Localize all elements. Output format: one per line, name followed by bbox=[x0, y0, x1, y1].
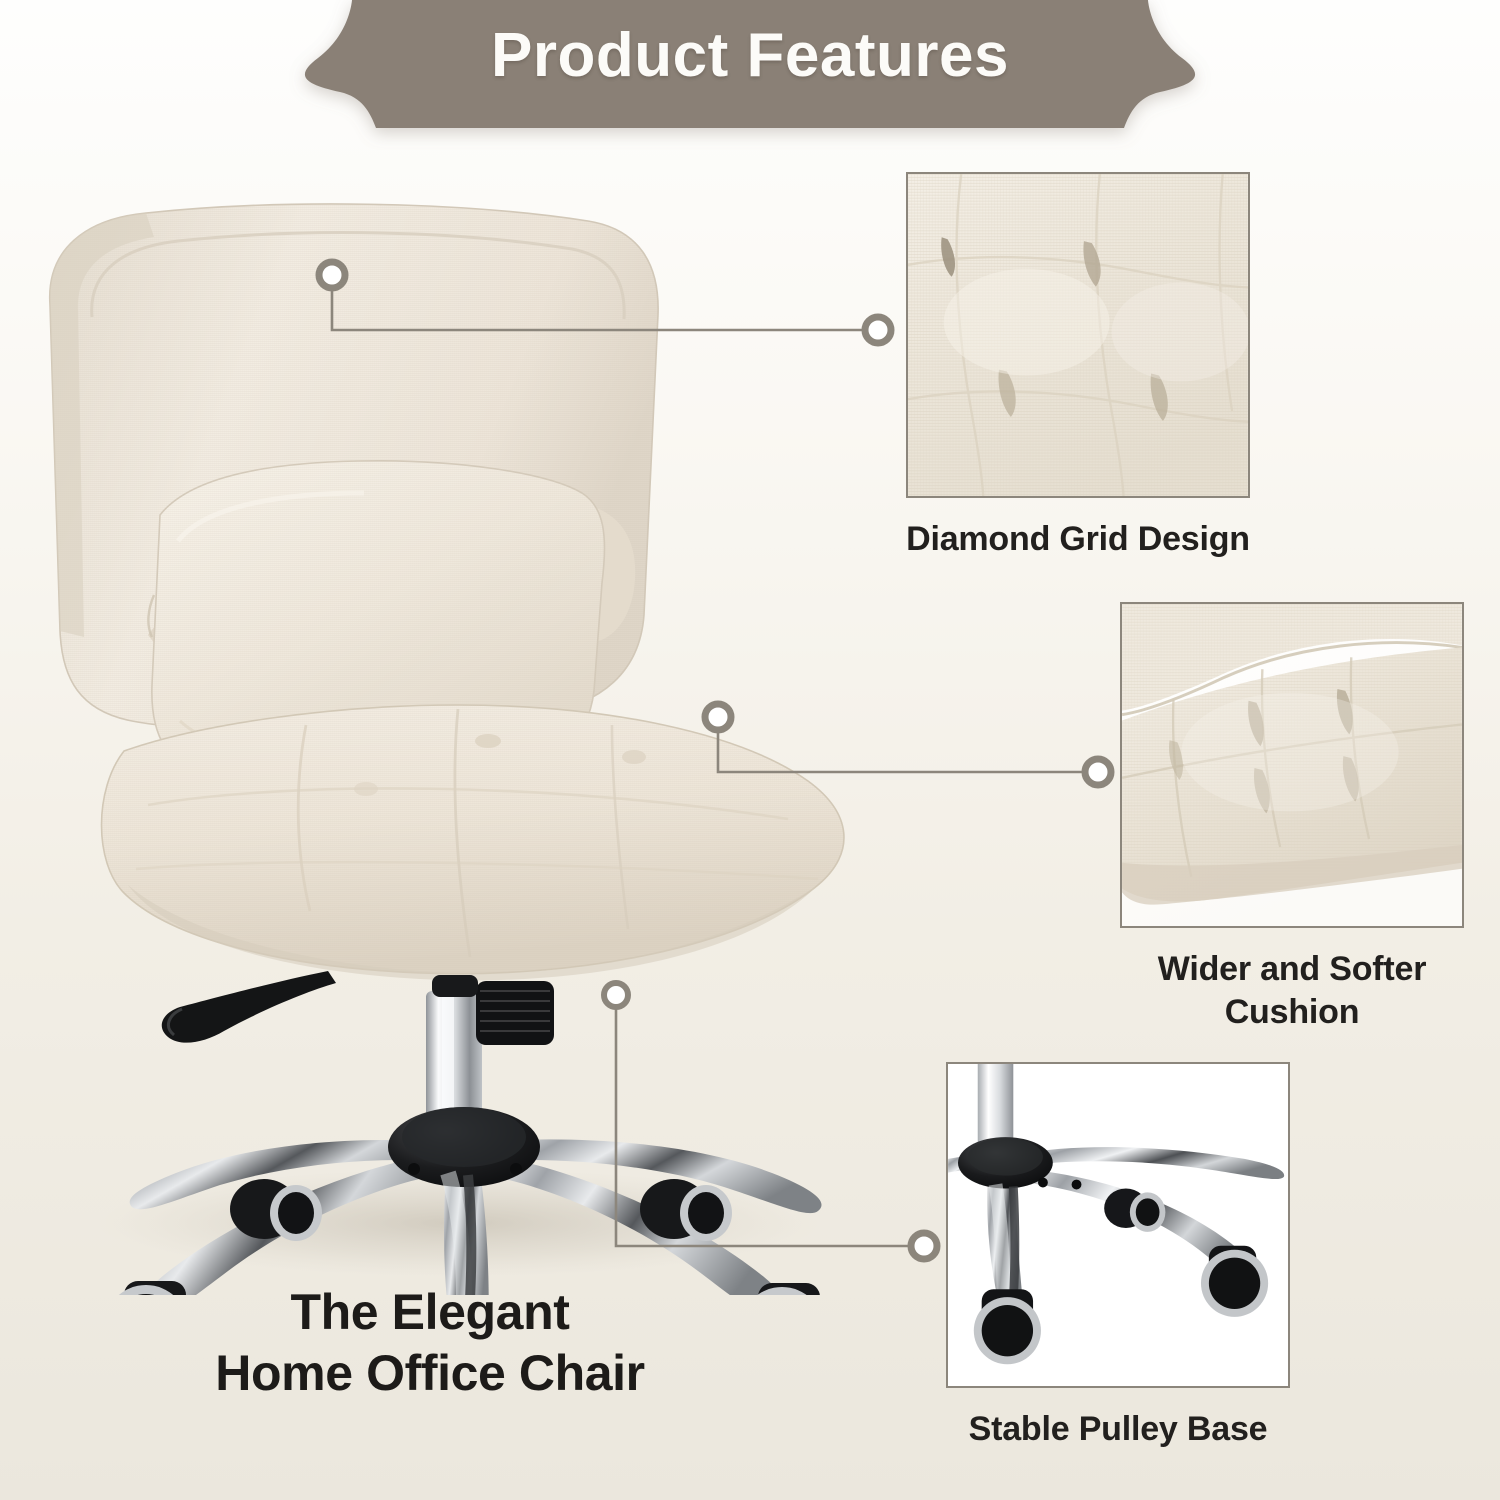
page-title: Product Features bbox=[0, 20, 1500, 91]
feature-caption-diamond-grid: Diamond Grid Design bbox=[906, 518, 1250, 561]
hero-chair-image bbox=[28, 185, 908, 1295]
feature-card-wider-softer-cushion: Wider and Softer Cushion bbox=[1120, 602, 1464, 1034]
feature-image-diamond-grid bbox=[906, 172, 1250, 498]
product-title-line-2: Home Office Chair bbox=[40, 1343, 820, 1404]
feature-card-stable-pulley-base: Stable Pulley Base bbox=[946, 1062, 1290, 1451]
seat-cushion bbox=[102, 705, 844, 980]
header-banner: Product Features bbox=[0, 0, 1500, 150]
feature-image-wider-softer-cushion bbox=[1120, 602, 1464, 928]
height-adjust-lever bbox=[162, 971, 336, 1043]
banner-shape bbox=[305, 0, 1195, 128]
endpoint-marker-wider-softer-cushion bbox=[1085, 759, 1111, 785]
product-title: The Elegant Home Office Chair bbox=[40, 1282, 820, 1404]
feature-card-diamond-grid: Diamond Grid Design bbox=[906, 172, 1250, 561]
endpoint-marker-stable-pulley-base bbox=[911, 1233, 937, 1259]
product-title-line-1: The Elegant bbox=[40, 1282, 820, 1343]
feature-caption-wider-softer-cushion: Wider and Softer Cushion bbox=[1120, 948, 1464, 1034]
feature-caption-stable-pulley-base: Stable Pulley Base bbox=[946, 1408, 1290, 1451]
feature-image-stable-pulley-base bbox=[946, 1062, 1290, 1388]
